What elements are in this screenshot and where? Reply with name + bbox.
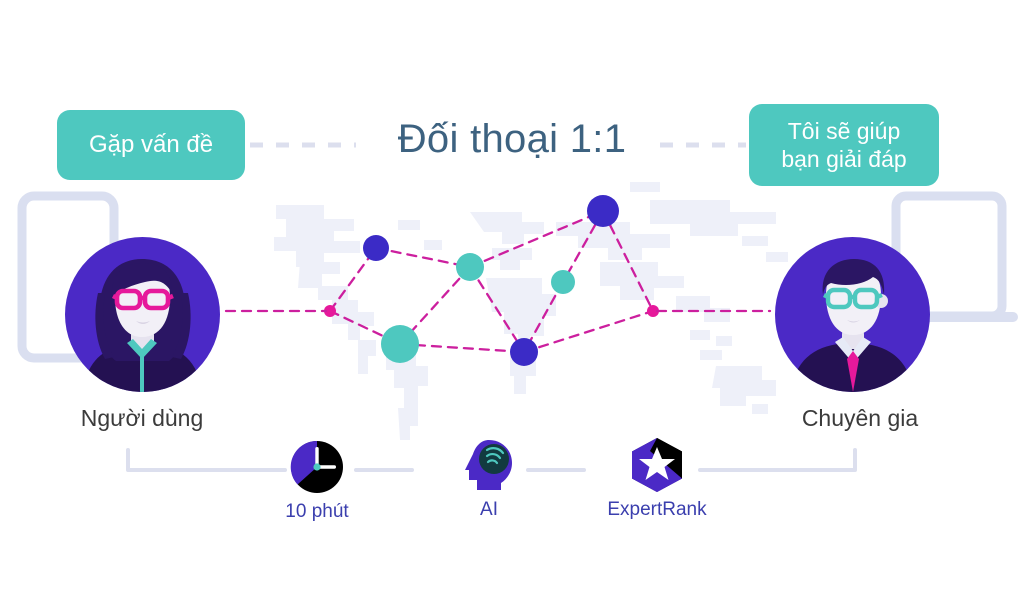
feature-rank-label: ExpertRank [597, 499, 717, 521]
page-title: Đối thoại 1:1 [332, 117, 692, 162]
label-user: Người dùng [42, 405, 242, 432]
speech-bubble-user: Gặp vấn đề [57, 110, 245, 180]
speech-bubble-expert-line2: bạn giải đáp [781, 146, 906, 172]
clock-icon [257, 440, 377, 494]
feature-ai[interactable]: AI [429, 438, 549, 521]
label-expert: Chuyên gia [760, 405, 960, 432]
hex-star-icon [597, 438, 717, 492]
speech-bubble-expert-line1: Tôi sẽ giúp [788, 118, 901, 144]
avatar-expert [775, 237, 930, 392]
feature-ai-label: AI [429, 499, 549, 521]
speech-bubble-user-text: Gặp vấn đề [89, 130, 213, 159]
infographic-canvas: Gặp vấn đề Tôi sẽ giúp bạn giải đáp Đối … [0, 0, 1024, 614]
speech-bubble-expert-text: Tôi sẽ giúp bạn giải đáp [781, 117, 906, 173]
ai-head-icon [429, 438, 549, 492]
feature-time-label: 10 phút [257, 501, 377, 523]
avatar-user [65, 237, 220, 392]
speech-bubble-expert: Tôi sẽ giúp bạn giải đáp [749, 104, 939, 186]
feature-rank[interactable]: ExpertRank [597, 438, 717, 521]
feature-time[interactable]: 10 phút [257, 440, 377, 523]
